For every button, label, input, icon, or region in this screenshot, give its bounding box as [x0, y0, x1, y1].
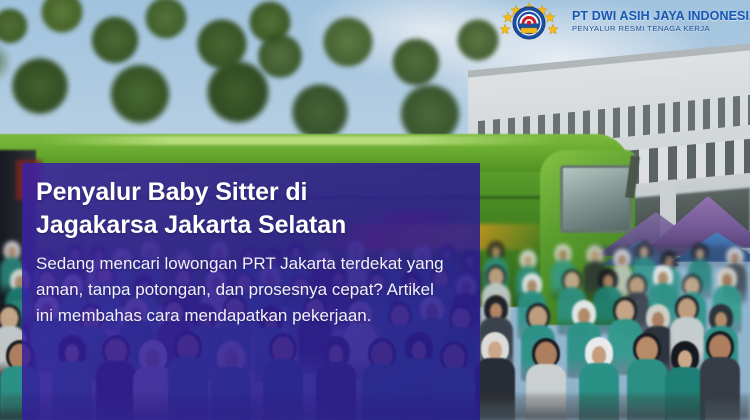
text-overlay-panel: Penyalur Baby Sitter di Jagakarsa Jakart… — [22, 163, 480, 420]
overlay-content: Penyalur Baby Sitter di Jagakarsa Jakart… — [36, 176, 470, 328]
company-emblem-icon — [493, 2, 565, 42]
bus-door-window — [560, 165, 632, 233]
bus-roof-highlight — [40, 136, 560, 145]
promo-banner: Penyalur Baby Sitter di Jagakarsa Jakart… — [0, 0, 750, 420]
company-emblem-svg — [493, 2, 565, 42]
company-tagline: PENYALUR RESMI TENAGA KERJA — [572, 23, 750, 35]
company-name: PT DWI ASIH JAYA INDONESIA — [572, 10, 750, 23]
page-title: Penyalur Baby Sitter di Jagakarsa Jakart… — [36, 176, 366, 241]
page-subtitle: Sedang mencari lowongan PRT Jakarta terd… — [36, 251, 448, 328]
brand-lockup[interactable]: PT DWI ASIH JAYA INDONESIA PENYALUR RESM… — [493, 2, 750, 42]
brand-text-block: PT DWI ASIH JAYA INDONESIA PENYALUR RESM… — [572, 9, 750, 35]
